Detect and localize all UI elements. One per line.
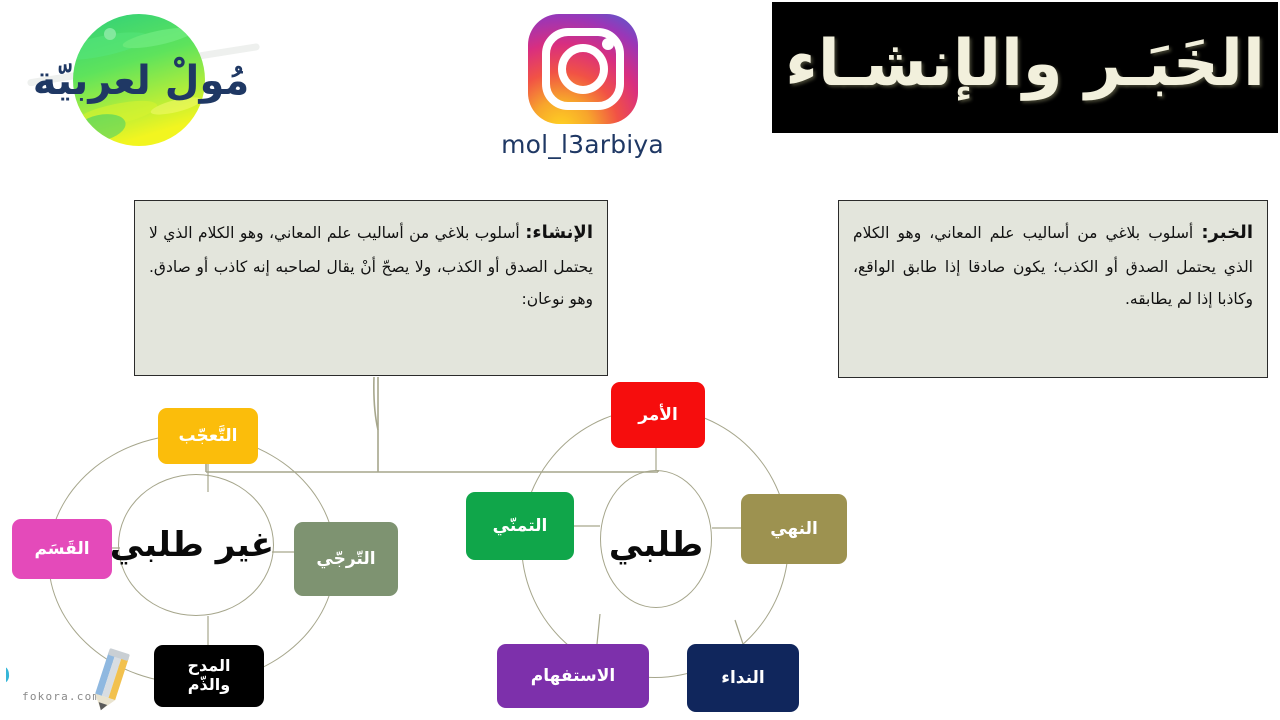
planet-logo-text: مُولْ لعربيّة — [33, 57, 250, 104]
fokora-domain-text: fokora.com — [22, 690, 100, 703]
node-tarajji[interactable]: التّرجّي — [294, 522, 398, 596]
node-taajjub[interactable]: التَّعجّب — [158, 408, 258, 464]
node-tamanni[interactable]: التمنّي — [466, 492, 574, 560]
group-center-ghayr-talabi: غير طلبي — [118, 525, 274, 565]
pencil-icon — [91, 648, 130, 713]
instagram-handle[interactable]: mol_l3arbiya — [470, 130, 695, 159]
definition-term-insha: الإنشاء: — [525, 222, 593, 243]
planet-logo: مُولْ لعربيّة — [8, 2, 278, 162]
node-nidaa[interactable]: النداء — [687, 644, 799, 712]
fokora-watermark: فكرة fokora.com — [6, 640, 172, 714]
node-amr[interactable]: الأمر — [611, 382, 705, 448]
definition-body-khabar: أسلوب بلاغي من أساليب علم المعاني، وهو ا… — [853, 224, 1253, 308]
definition-box-insha: الإنشاء: أسلوب بلاغي من أساليب علم المعا… — [134, 200, 608, 376]
node-nahy[interactable]: النهي — [741, 494, 847, 564]
instagram-block[interactable]: mol_l3arbiya — [470, 10, 695, 160]
node-qasam[interactable]: القَسَم — [12, 519, 112, 579]
node-istifham[interactable]: الاستفهام — [497, 644, 649, 708]
slide-canvas: مُولْ لعربيّة mol_l3arbiya الخَبَـر — [0, 0, 1280, 720]
fokora-arabic-text: فكرة — [6, 652, 12, 693]
group-center-talabi: طلبي — [600, 525, 712, 565]
title-banner: الخَبَـر والإنشـاء — [772, 2, 1278, 133]
definition-term-khabar: الخبر: — [1201, 222, 1253, 243]
page-title: الخَبَـر والإنشـاء — [785, 27, 1265, 101]
instagram-icon[interactable] — [524, 10, 642, 128]
definition-box-khabar: الخبر: أسلوب بلاغي من أساليب علم المعاني… — [838, 200, 1268, 378]
